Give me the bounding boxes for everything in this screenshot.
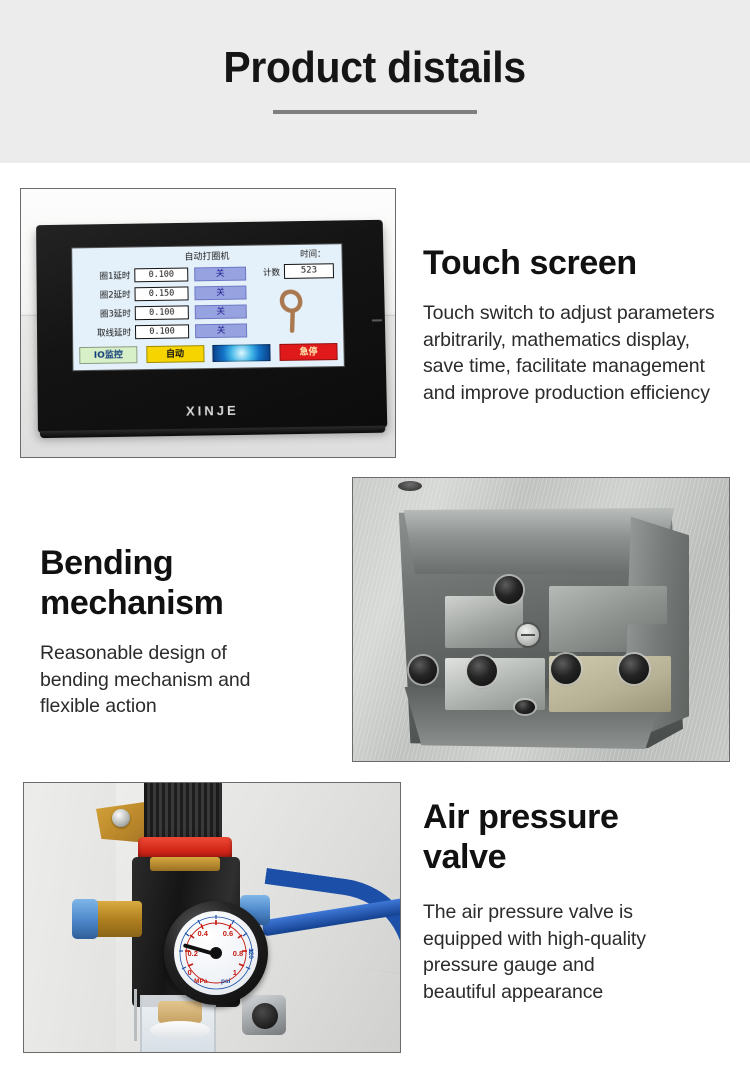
description-line: The air pressure valve is	[423, 899, 743, 926]
heading-line: valve	[423, 837, 743, 877]
bending-mechanism-text: Bending mechanism Reasonable design of b…	[40, 543, 350, 720]
hmi-image-button[interactable]	[213, 344, 271, 362]
description-line: save time, facilitate management	[423, 353, 743, 380]
bracket-screw	[112, 809, 130, 827]
hmi-row-label: 取线延时	[81, 326, 135, 339]
hmi-row-value[interactable]: 0.100	[135, 324, 189, 339]
wire-loop-icon	[274, 287, 309, 333]
hmi-row-value[interactable]: 0.150	[134, 286, 188, 301]
hmi-counter-label: 计数	[263, 266, 280, 278]
gauge-hub	[210, 947, 222, 959]
title-underline	[273, 110, 477, 114]
hmi-button-bar: IO监控 自动 急停	[79, 343, 338, 364]
air-pressure-valve-description: The air pressure valve is equipped with …	[423, 899, 743, 1005]
gauge-label-0-4: 0.4	[198, 929, 208, 938]
hmi-emergency-stop-button[interactable]: 急停	[279, 343, 337, 361]
bending-mechanism-photo	[352, 477, 730, 762]
hmi-brand-label: XINJE	[38, 400, 387, 421]
drain-port	[252, 1003, 278, 1029]
hex-bolt	[409, 656, 437, 684]
description-line: equipped with high-quality	[423, 926, 743, 953]
hmi-io-monitor-button[interactable]: IO监控	[79, 346, 137, 364]
power-led-icon	[372, 319, 382, 321]
hmi-row-value[interactable]: 0.100	[135, 305, 189, 320]
hmi-row-label: 圈2延时	[81, 288, 135, 301]
description-line: bending mechanism and	[40, 667, 350, 694]
pressure-gauge: 0.2 0.4 0.6 0.8 1 0 MPa psi 120	[164, 901, 268, 1005]
hex-bolt	[495, 576, 523, 604]
description-line: pressure gauge and	[423, 952, 743, 979]
air-pressure-valve-photo: 0.2 0.4 0.6 0.8 1 0 MPa psi 120	[23, 782, 401, 1053]
bending-mechanism-heading: Bending mechanism	[40, 543, 350, 623]
page-title: Product distails	[224, 42, 526, 94]
description-line: Touch switch to adjust parameters	[423, 300, 743, 327]
air-pressure-valve-heading: Air pressure valve	[423, 797, 743, 877]
hmi-counter-value[interactable]: 523	[284, 263, 334, 279]
description-line: beautiful appearance	[423, 979, 743, 1006]
push-fit-cap-left	[72, 899, 98, 939]
hmi-row-label: 圈1延时	[80, 269, 134, 282]
description-line: flexible action	[40, 693, 350, 720]
hmi-row-switch[interactable]: 关	[195, 304, 247, 319]
hmi-row-switch[interactable]: 关	[194, 266, 246, 281]
hmi-parameter-rows: 圈1延时 0.100 关 圈2延时 0.150 关 圈3延时 0.100 关 取…	[80, 265, 247, 343]
gauge-face: 0.2 0.4 0.6 0.8 1 0 MPa psi 120	[174, 911, 258, 995]
brass-collar	[150, 857, 220, 871]
hex-bolt	[619, 654, 649, 684]
hmi-row-value[interactable]: 0.100	[134, 267, 188, 282]
description-line: and improve production efficiency	[423, 380, 743, 407]
air-pressure-valve-text: Air pressure valve The air pressure valv…	[423, 797, 743, 1005]
hmi-row: 取线延时 0.100 关	[81, 321, 247, 341]
hmi-row-switch[interactable]: 关	[194, 285, 246, 300]
gauge-label-0: 0	[187, 968, 191, 977]
hex-bolt	[467, 656, 497, 686]
hmi-row: 圈3延时 0.100 关	[81, 302, 247, 322]
bowl-base	[150, 1021, 210, 1039]
bending-mechanism-description: Reasonable design of bending mechanism a…	[40, 640, 350, 720]
hex-bolt	[551, 654, 581, 684]
hmi-row-switch[interactable]: 关	[195, 323, 247, 338]
gauge-unit-mpa: MPa	[194, 978, 207, 985]
gauge-label-0-6: 0.6	[223, 929, 233, 938]
page-header: Product distails	[0, 0, 750, 163]
description-line: arbitrarily, mathematics display,	[423, 327, 743, 354]
hmi-panel: 自动打圈机 时间： 圈1延时 0.100 关 圈2延时 0.150 关 圈3延时…	[36, 220, 387, 433]
touch-screen-photo: 自动打圈机 时间： 圈1延时 0.100 关 圈2延时 0.150 关 圈3延时…	[20, 188, 396, 458]
hmi-row-label: 圈3延时	[81, 307, 135, 320]
surface-hole	[398, 481, 422, 491]
hmi-time-label: 时间：	[300, 247, 326, 259]
touch-screen-heading: Touch screen	[423, 243, 743, 283]
slotted-screw	[517, 624, 539, 646]
heading-line: Air pressure	[423, 797, 743, 837]
gauge-label-0-8: 0.8	[233, 949, 243, 958]
touch-screen-text: Touch screen Touch switch to adjust para…	[423, 243, 743, 406]
touch-screen-description: Touch switch to adjust parameters arbitr…	[423, 300, 743, 406]
gauge-label-1: 1	[233, 968, 237, 977]
gauge-unit-psi: psi	[221, 978, 230, 985]
hmi-counter: 计数 523	[263, 263, 334, 279]
description-line: Reasonable design of	[40, 640, 350, 667]
gauge-psi-max: 120	[246, 948, 253, 959]
hex-bolt	[515, 700, 535, 714]
hmi-row: 圈1延时 0.100 关	[80, 265, 246, 285]
hmi-auto-button[interactable]: 自动	[146, 345, 204, 363]
filter-element	[158, 1001, 202, 1023]
hmi-row: 圈2延时 0.150 关	[81, 284, 247, 304]
bowl-guard-rod	[134, 989, 137, 1041]
hmi-screen: 自动打圈机 时间： 圈1延时 0.100 关 圈2延时 0.150 关 圈3延时…	[71, 243, 345, 371]
